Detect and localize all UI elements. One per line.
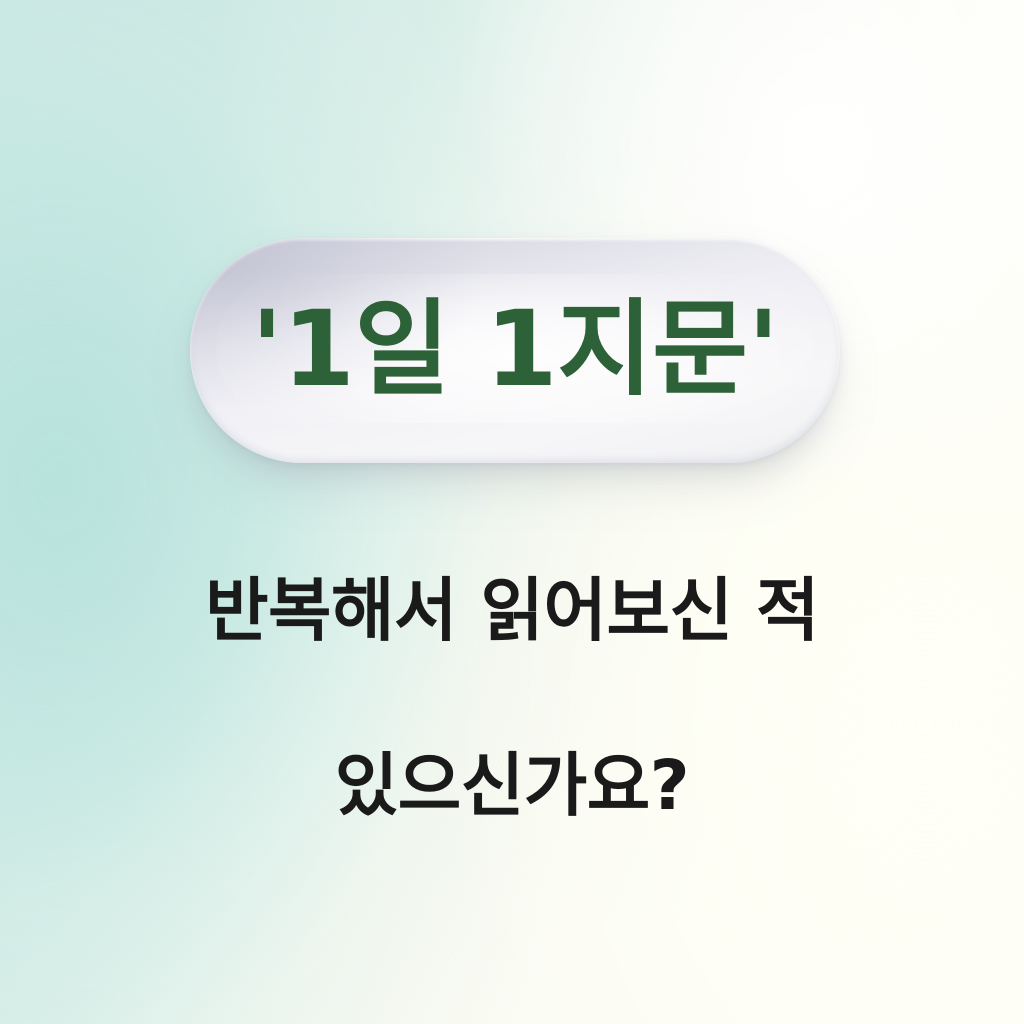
poster-content: '1일 1지문' 반복해서 읽어보신 적 있으신가요?: [0, 0, 1024, 1024]
title-badge-surface: '1일 1지문': [190, 238, 840, 463]
headline-line-2: 있으신가요?: [0, 752, 1024, 821]
poster-canvas: '1일 1지문' 반복해서 읽어보신 적 있으신가요?: [0, 0, 1024, 1024]
headline-line-1: 반복해서 읽어보신 적: [0, 577, 1024, 646]
title-badge: '1일 1지문': [190, 238, 840, 463]
title-badge-label: '1일 1지문': [251, 297, 779, 401]
